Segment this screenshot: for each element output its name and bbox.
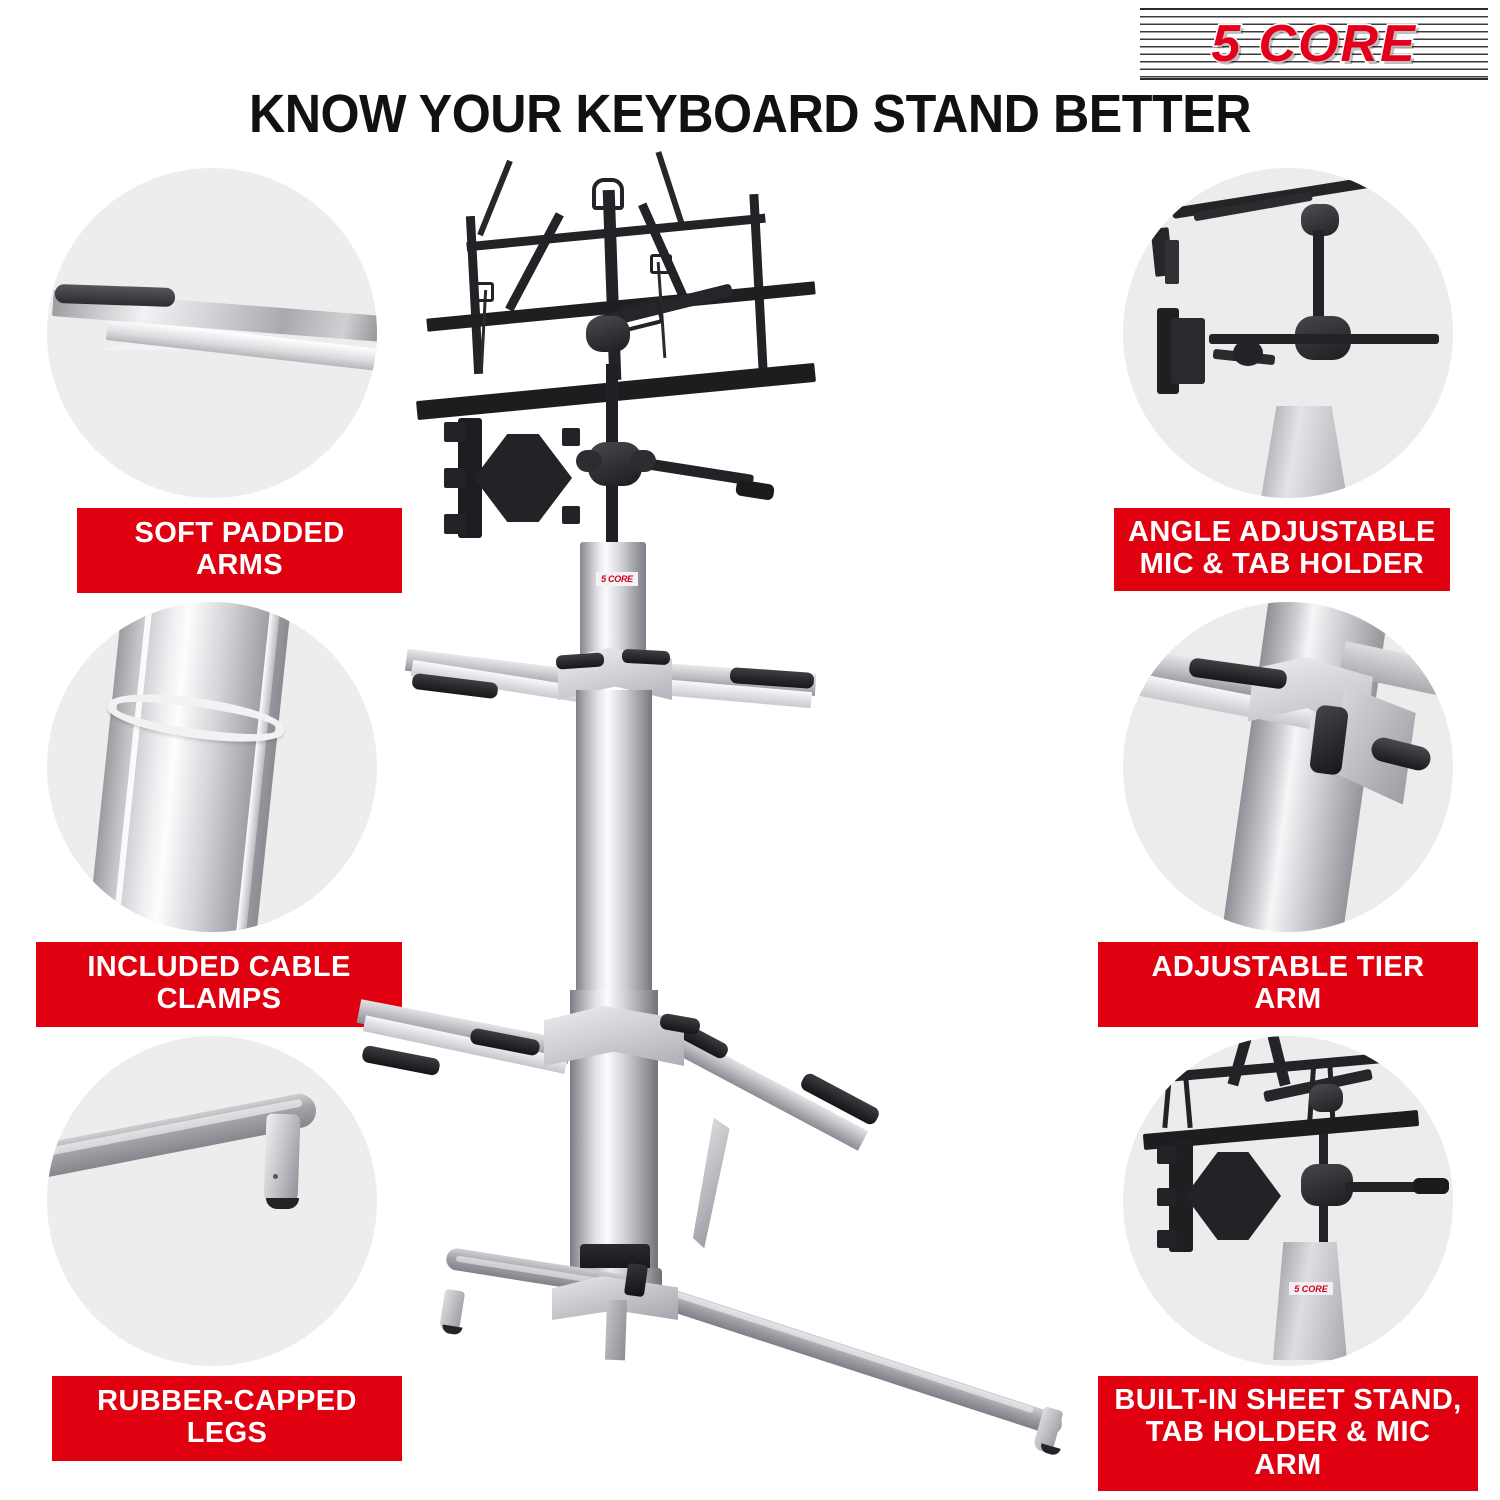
tab-holder-jaw-icon bbox=[1171, 318, 1205, 384]
column-brand-label-text: 5 CORE bbox=[1289, 1282, 1333, 1295]
feature-image-soft-padded-arms bbox=[47, 168, 377, 498]
feature-included-cable-clamps: INCLUDED CABLE CLAMPS bbox=[22, 602, 402, 1027]
page-clip-right-icon bbox=[650, 254, 672, 274]
aluminum-column-mid-icon bbox=[576, 690, 652, 1020]
rubber-cap-right-icon bbox=[1039, 1443, 1060, 1456]
aluminum-column-top-icon bbox=[1261, 406, 1347, 498]
column-brand-label-text: 5 CORE bbox=[596, 572, 638, 586]
tab-holder-body-icon bbox=[1185, 1152, 1281, 1240]
tab-holder-hook-3-icon bbox=[1157, 1230, 1177, 1248]
tab-holder-right-hook-1-icon bbox=[562, 428, 580, 446]
brand-logo: 5 CORE bbox=[1140, 8, 1488, 80]
rubber-cap-icon bbox=[266, 1198, 299, 1209]
mic-arm-tip-icon bbox=[1413, 1178, 1449, 1194]
feature-rubber-capped-legs: RUBBER-CAPPED LEGS bbox=[22, 1036, 402, 1461]
leg-foot-icon bbox=[263, 1113, 300, 1206]
tripod-leg-right-highlight-icon bbox=[671, 1290, 1034, 1413]
feature-soft-padded-arms: SOFT PADDED ARMS bbox=[22, 168, 402, 593]
tripod-leg-center-icon bbox=[605, 1300, 627, 1361]
feature-image-adjustable-tier-arm bbox=[1123, 602, 1453, 932]
feature-image-rubber-capped-legs bbox=[47, 1036, 377, 1366]
tab-holder-hook-3-icon bbox=[444, 514, 466, 534]
aluminum-column-icon bbox=[1273, 1242, 1347, 1360]
feature-built-in-sheet-stand: 5 CORE BUILT-IN SHEET STAND, TAB HOLDER … bbox=[1098, 1036, 1478, 1491]
feature-angle-adjustable-mic-tab-holder: ANGLE ADJUSTABLE MIC & TAB HOLDER bbox=[1098, 168, 1478, 591]
feature-adjustable-tier-arm: ADJUSTABLE TIER ARM bbox=[1098, 602, 1478, 1027]
feature-label-built-in-sheet-stand: BUILT-IN SHEET STAND, TAB HOLDER & MIC A… bbox=[1098, 1376, 1478, 1491]
post-knob-right-icon bbox=[630, 450, 656, 472]
feature-label-included-cable-clamps: INCLUDED CABLE CLAMPS bbox=[36, 942, 402, 1027]
page-clip-left-icon bbox=[472, 282, 494, 302]
tab-holder-hook-2-icon bbox=[1157, 1188, 1177, 1206]
lower-mic-arm-tip-icon bbox=[735, 479, 775, 501]
feature-label-soft-padded-arms: SOFT PADDED ARMS bbox=[77, 508, 402, 593]
feature-image-angle-adjustable-mic-tab-holder bbox=[1123, 168, 1453, 498]
lower-tier-brace-icon bbox=[687, 1118, 732, 1249]
feature-label-adjustable-tier-arm: ADJUSTABLE TIER ARM bbox=[1098, 942, 1478, 1027]
tab-holder-hook-1-icon bbox=[444, 422, 466, 442]
feature-image-built-in-sheet-stand: 5 CORE bbox=[1123, 1036, 1453, 1366]
sheet-stand-strut-left-icon bbox=[1227, 1036, 1253, 1086]
mic-angle-knob-icon bbox=[1309, 1084, 1343, 1112]
leg-screw-dot-icon bbox=[273, 1174, 278, 1179]
sheet-stand-thin-strut-left-icon bbox=[477, 160, 513, 236]
rubber-cap-left-icon bbox=[441, 1324, 462, 1335]
feature-image-included-cable-clamps bbox=[47, 602, 377, 932]
tab-holder-right-hook-2-icon bbox=[562, 506, 580, 524]
hero-product-image: 5 CORE bbox=[410, 150, 1090, 1490]
sheet-stand-diagonal-left-icon bbox=[505, 212, 564, 312]
feature-label-angle-adjustable-mic-tab-holder: ANGLE ADJUSTABLE MIC & TAB HOLDER bbox=[1114, 508, 1450, 591]
sheet-clip-secondary-icon bbox=[1165, 240, 1179, 284]
tab-holder-body-icon bbox=[474, 434, 572, 522]
mic-angle-knob-icon bbox=[586, 316, 630, 352]
post-knob-left-icon bbox=[576, 450, 602, 472]
page-title: KNOW YOUR KEYBOARD STAND BETTER bbox=[53, 83, 1448, 145]
brand-logo-label: 5 CORE bbox=[1211, 14, 1417, 74]
feature-label-rubber-capped-legs: RUBBER-CAPPED LEGS bbox=[52, 1376, 402, 1461]
upper-tier-pad-center-right-icon bbox=[622, 649, 671, 665]
tab-holder-hook-2-icon bbox=[444, 468, 466, 488]
brand-logo-text: 5 CORE bbox=[1140, 8, 1488, 80]
sheet-stand-thin-strut-right-icon bbox=[655, 151, 686, 231]
cross-arm-nub-icon bbox=[1233, 340, 1263, 366]
tab-holder-hook-1-icon bbox=[1157, 1146, 1177, 1164]
